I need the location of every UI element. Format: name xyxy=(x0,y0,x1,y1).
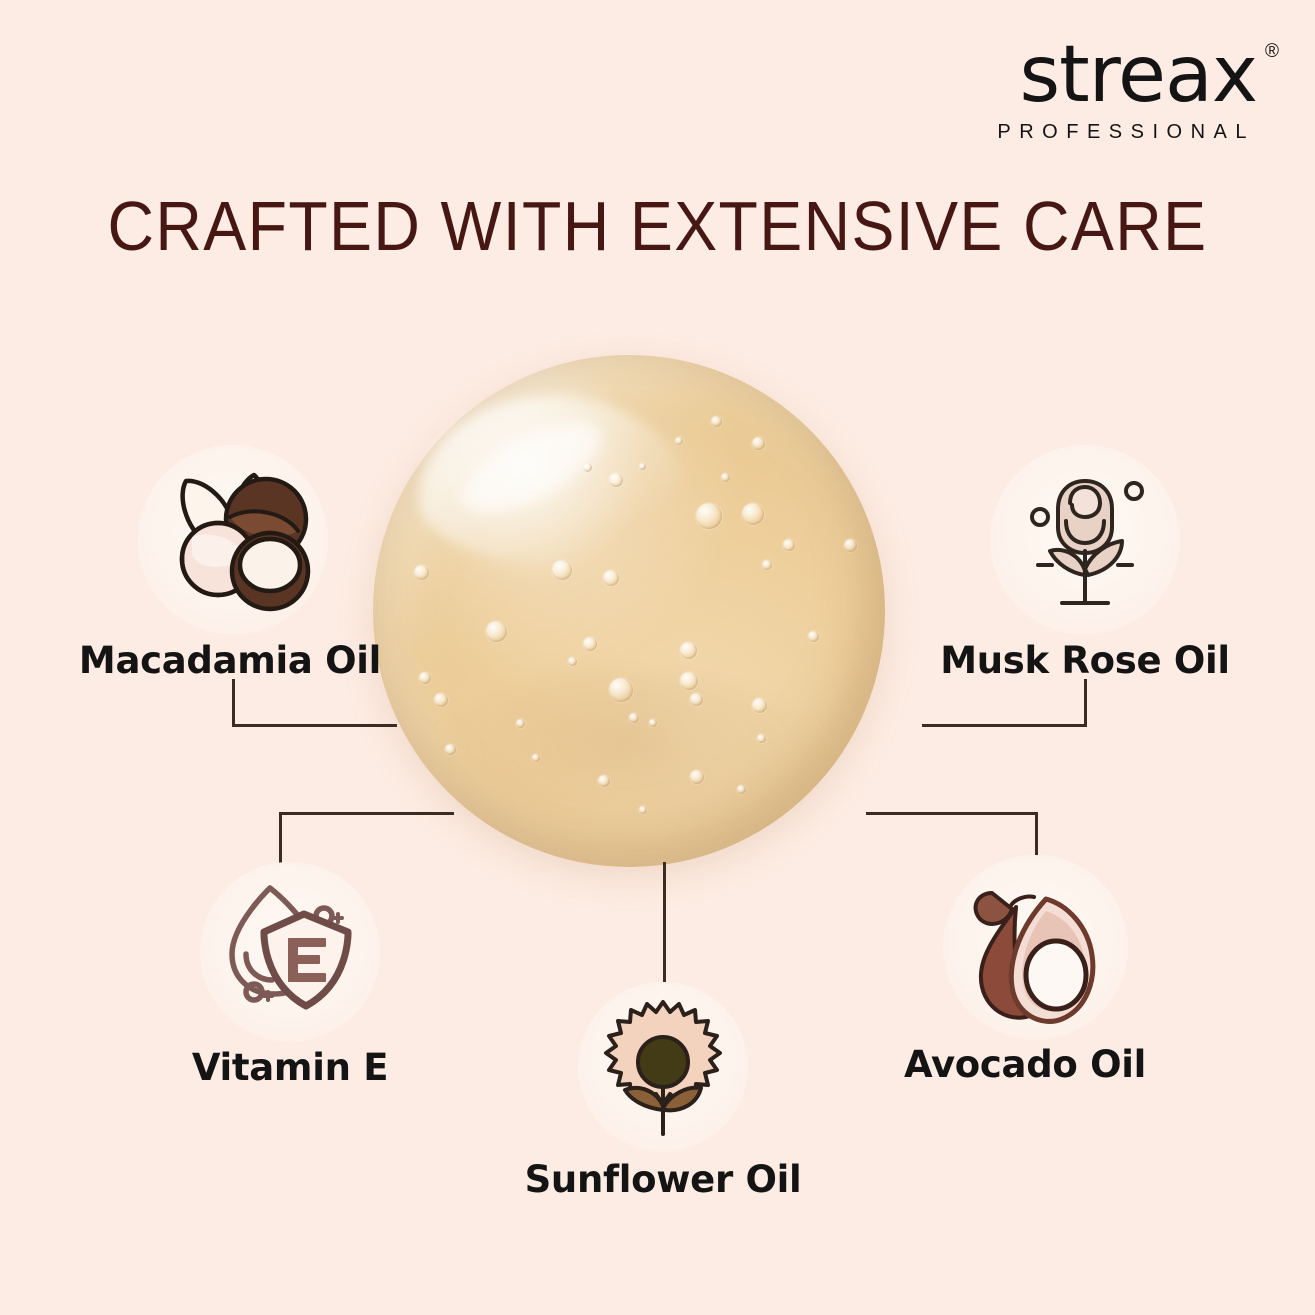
product-ingredient-infographic: streax ® PROFESSIONAL CRAFTED WITH EXTEN… xyxy=(0,0,1315,1315)
bubble xyxy=(583,463,592,472)
avocado-icon xyxy=(950,863,1122,1035)
bubble xyxy=(680,642,697,659)
connector-vitamine-vertical xyxy=(279,812,282,864)
macadamia-nut-icon xyxy=(148,455,318,625)
bubble xyxy=(639,806,647,814)
sunflower-icon xyxy=(583,988,743,1148)
connector-macadamia-horizontal xyxy=(232,724,397,727)
bubble xyxy=(486,621,507,642)
ingredient-musk-rose-oil[interactable]: Musk Rose Oil xyxy=(915,445,1255,675)
bubble xyxy=(609,473,623,487)
ingredient-macadamia-oil[interactable]: Macadamia Oil xyxy=(60,445,400,675)
bubble xyxy=(583,637,597,651)
connector-macadamia-vertical xyxy=(232,679,235,727)
bubble xyxy=(721,473,730,482)
ingredient-label: Macadamia Oil xyxy=(60,639,400,682)
ingredient-vitamin-e[interactable]: Vitamin E xyxy=(120,862,460,1102)
connector-vitamine-horizontal xyxy=(279,812,454,815)
bubble xyxy=(757,734,766,743)
connector-sunflower-vertical xyxy=(663,862,666,982)
bubble xyxy=(609,678,633,702)
bubble xyxy=(675,437,683,445)
ingredient-label: Vitamin E xyxy=(120,1046,460,1089)
bubble xyxy=(752,437,765,450)
brand-name: streax xyxy=(1019,36,1257,114)
registered-trademark-icon: ® xyxy=(1265,42,1279,61)
connector-muskrose-horizontal xyxy=(922,724,1087,727)
bubble xyxy=(742,503,764,525)
ingredient-label: Sunflower Oil xyxy=(493,1158,833,1201)
ingredient-label: Musk Rose Oil xyxy=(915,639,1255,682)
bubble xyxy=(445,744,456,755)
oil-droplet-sphere xyxy=(373,355,885,867)
bubble xyxy=(552,560,572,580)
connector-muskrose-vertical xyxy=(1084,679,1087,727)
bubble xyxy=(737,785,746,794)
droplet-shield-e-icon xyxy=(208,870,372,1034)
brand-logo: streax ® PROFESSIONAL xyxy=(997,36,1257,142)
ingredient-label: Avocado Oil xyxy=(855,1043,1195,1086)
brand-tagline: PROFESSIONAL xyxy=(997,122,1257,142)
rose-flower-icon xyxy=(1000,455,1170,625)
bubble xyxy=(752,698,767,713)
bubble xyxy=(414,565,429,580)
bubble xyxy=(639,463,646,470)
bubble xyxy=(696,503,722,529)
bubble xyxy=(762,560,772,570)
connector-avocado-horizontal xyxy=(866,812,1038,815)
ingredient-avocado-oil[interactable]: Avocado Oil xyxy=(855,855,1195,1105)
bubble xyxy=(568,657,577,666)
bubble xyxy=(516,719,525,728)
ingredient-sunflower-oil[interactable]: Sunflower Oil xyxy=(493,982,833,1232)
page-title: CRAFTED WITH EXTENSIVE CARE xyxy=(53,186,1263,266)
bubble xyxy=(783,539,795,551)
bubble xyxy=(598,775,610,787)
